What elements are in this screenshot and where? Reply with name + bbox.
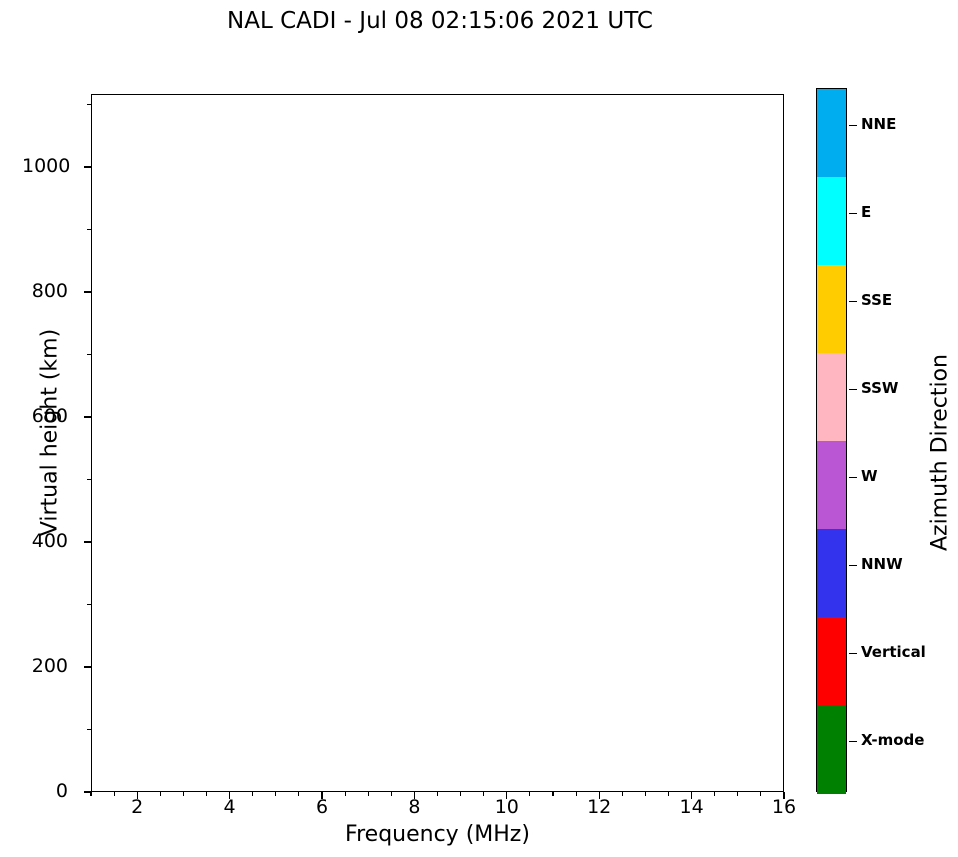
x-tick-label: 8 bbox=[394, 798, 434, 817]
x-tick-minor bbox=[483, 792, 484, 796]
colorbar bbox=[816, 88, 847, 792]
x-tick-minor bbox=[760, 792, 761, 796]
colorbar-tick bbox=[849, 125, 857, 126]
chart-title: NAL CADI - Jul 08 02:15:06 2021 UTC bbox=[0, 8, 880, 34]
x-tick-minor bbox=[668, 792, 669, 796]
colorbar-title: Azimuth Direction bbox=[928, 293, 953, 613]
colorbar-segment-x-mode bbox=[817, 705, 846, 794]
x-tick-minor bbox=[576, 792, 577, 796]
x-tick-label: 2 bbox=[117, 798, 157, 817]
y-tick-mark bbox=[84, 541, 91, 542]
colorbar-label-w: W bbox=[861, 469, 878, 484]
colorbar-tick bbox=[849, 741, 857, 742]
colorbar-segment-e bbox=[817, 177, 846, 266]
colorbar-label-vertical: Vertical bbox=[861, 645, 926, 660]
colorbar-tick bbox=[849, 213, 857, 214]
x-tick-minor bbox=[529, 792, 530, 796]
y-tick-minor bbox=[87, 229, 91, 230]
y-tick-label: 200 bbox=[22, 657, 68, 676]
x-tick-minor bbox=[737, 792, 738, 796]
x-tick-minor bbox=[391, 792, 392, 796]
x-tick-minor bbox=[252, 792, 253, 796]
x-tick-minor bbox=[275, 792, 276, 796]
colorbar-segment-ssw bbox=[817, 353, 846, 442]
colorbar-label-sse: SSE bbox=[861, 293, 892, 308]
colorbar-label-e: E bbox=[861, 205, 871, 220]
colorbar-tick bbox=[849, 565, 857, 566]
x-tick-minor bbox=[183, 792, 184, 796]
colorbar-tick bbox=[849, 301, 857, 302]
x-tick-minor bbox=[90, 792, 91, 796]
x-tick-label: 14 bbox=[672, 798, 712, 817]
colorbar-segment-vertical bbox=[817, 617, 846, 706]
x-tick-label: 12 bbox=[579, 798, 619, 817]
x-tick-minor bbox=[645, 792, 646, 796]
x-tick-minor bbox=[368, 792, 369, 796]
x-tick-minor bbox=[437, 792, 438, 796]
y-tick-minor bbox=[87, 604, 91, 605]
x-tick-minor bbox=[460, 792, 461, 796]
plot-frame bbox=[91, 94, 784, 792]
ionogram-figure: NAL CADI - Jul 08 02:15:06 2021 UTC 0200… bbox=[0, 0, 958, 857]
x-tick-minor bbox=[714, 792, 715, 796]
colorbar-label-nne: NNE bbox=[861, 117, 896, 132]
colorbar-label-x-mode: X-mode bbox=[861, 733, 924, 748]
x-tick-minor bbox=[298, 792, 299, 796]
colorbar-tick bbox=[849, 389, 857, 390]
x-tick-minor bbox=[114, 792, 115, 796]
x-tick-label: 10 bbox=[487, 798, 527, 817]
y-tick-mark bbox=[84, 166, 91, 167]
colorbar-tick bbox=[849, 653, 857, 654]
colorbar-segment-nnw bbox=[817, 529, 846, 618]
x-tick-label: 6 bbox=[302, 798, 342, 817]
y-tick-minor bbox=[87, 104, 91, 105]
y-tick-label: 1000 bbox=[22, 157, 68, 176]
y-tick-minor bbox=[87, 479, 91, 480]
x-axis-label: Frequency (MHz) bbox=[91, 822, 784, 847]
x-tick-minor bbox=[622, 792, 623, 796]
y-tick-label: 0 bbox=[22, 782, 68, 801]
colorbar-segment-nne bbox=[817, 89, 846, 178]
colorbar-label-nnw: NNW bbox=[861, 557, 903, 572]
colorbar-label-ssw: SSW bbox=[861, 381, 898, 396]
y-tick-mark bbox=[84, 291, 91, 292]
x-tick-minor bbox=[160, 792, 161, 796]
y-tick-mark bbox=[84, 666, 91, 667]
colorbar-segment-sse bbox=[817, 265, 846, 354]
colorbar-segment-w bbox=[817, 441, 846, 530]
colorbar-tick bbox=[849, 477, 857, 478]
x-tick-minor bbox=[552, 792, 553, 796]
x-tick-minor bbox=[345, 792, 346, 796]
x-tick-minor bbox=[206, 792, 207, 796]
x-tick-label: 16 bbox=[764, 798, 804, 817]
y-tick-minor bbox=[87, 354, 91, 355]
y-tick-mark bbox=[84, 416, 91, 417]
x-tick-label: 4 bbox=[210, 798, 250, 817]
y-axis-label: Virtual height (km) bbox=[38, 283, 63, 583]
y-tick-minor bbox=[87, 729, 91, 730]
